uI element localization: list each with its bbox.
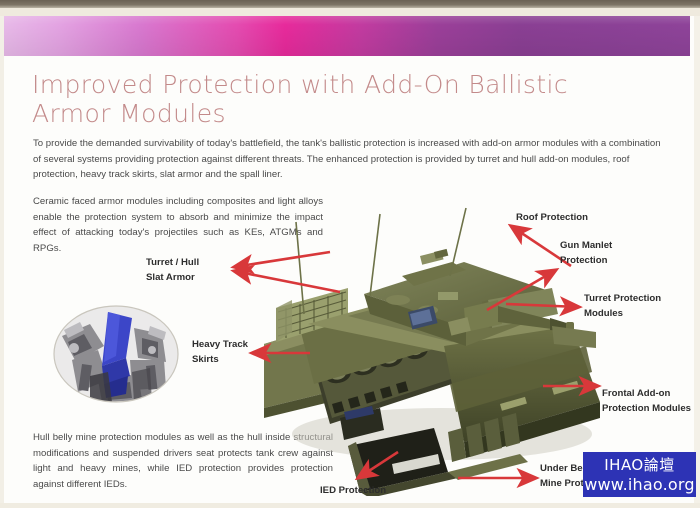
photo-edge-left bbox=[0, 16, 4, 508]
watermark-line-2: www.ihao.org bbox=[584, 475, 695, 495]
photo-edge-bottom bbox=[0, 503, 700, 508]
callout-label-ied-protection: IED Protection bbox=[320, 484, 386, 499]
callout-label-gun-manlet: Gun Manlet Protection bbox=[560, 239, 612, 268]
photo-edge-cream bbox=[0, 8, 700, 16]
callout-label-heavy-track-skirts: Heavy Track Skirts bbox=[192, 338, 248, 367]
callout-label-roof-protection: Roof Protection bbox=[516, 211, 588, 226]
photo-edge-top bbox=[0, 0, 700, 8]
inset-photo-svg bbox=[46, 302, 186, 406]
callout-label-slat-armor: Turret / Hull Slat Armor bbox=[146, 256, 199, 285]
inset-photo-drivers-seat bbox=[46, 302, 186, 406]
page-title: Improved Protection with Add-On Ballisti… bbox=[32, 70, 632, 128]
callout-label-frontal-addon: Frontal Add-on Protection Modules bbox=[602, 387, 691, 416]
header-gradient-shading bbox=[4, 16, 690, 56]
callout-label-turret-modules: Turret Protection Modules bbox=[584, 292, 661, 321]
photo-edge-right bbox=[694, 16, 700, 508]
paragraph-intro: To provide the demanded survivability of… bbox=[33, 136, 663, 183]
document-page: Improved Protection with Add-On Ballisti… bbox=[0, 0, 700, 508]
watermark-line-1: IHAO論壇 bbox=[604, 455, 675, 475]
watermark-overlay: IHAO論壇 www.ihao.org bbox=[583, 452, 696, 497]
